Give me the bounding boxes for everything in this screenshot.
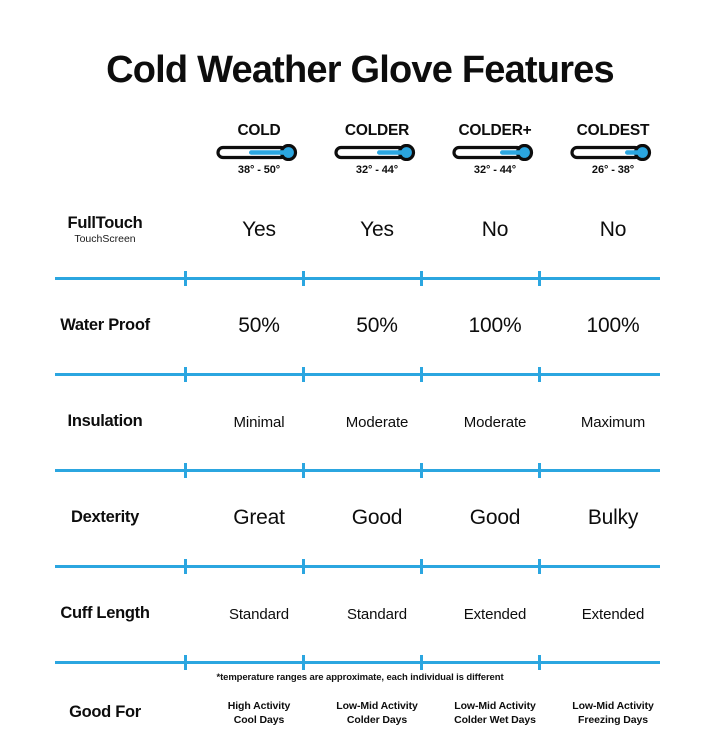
cell-value: Bulky xyxy=(554,506,672,530)
row-label: Dexterity xyxy=(10,509,200,526)
table-row: Dexterity Great Good Good Bulky xyxy=(0,478,660,558)
cell-value-line: Cool Days xyxy=(200,713,318,727)
comparison-table: COLD 38° - 50° COLDER xyxy=(0,122,720,756)
divider-tick xyxy=(538,559,541,574)
divider-tick xyxy=(302,271,305,286)
table-row: Insulation Minimal Moderate Moderate Max… xyxy=(0,382,660,462)
cell-value: Great xyxy=(200,506,318,530)
divider-tick xyxy=(302,655,305,670)
cell-value-line: Low-Mid Activity xyxy=(554,699,672,713)
row-divider xyxy=(55,654,660,670)
table-row: FullTouch TouchScreen Yes Yes No No xyxy=(0,190,660,270)
cell-value: High Activity Cool Days xyxy=(200,699,318,727)
glove-features-infographic: Cold Weather Glove Features COLD 38° - 5… xyxy=(0,0,720,720)
table-row: Water Proof 50% 50% 100% 100% xyxy=(0,286,660,366)
divider-tick xyxy=(538,271,541,286)
page-title: Cold Weather Glove Features xyxy=(0,50,720,92)
row-label-cell: FullTouch TouchScreen xyxy=(0,215,200,246)
cell-value-line: Low-Mid Activity xyxy=(318,699,436,713)
column-temperature-range: 32° - 44° xyxy=(356,164,398,176)
row-label-cell: Cuff Length xyxy=(0,605,200,622)
cell-value-line: Colder Days xyxy=(318,713,436,727)
row-label: Water Proof xyxy=(10,317,200,334)
cell-value: Extended xyxy=(554,606,672,623)
row-divider xyxy=(55,366,660,382)
cell-value: No xyxy=(436,218,554,242)
column-temperature-range: 38° - 50° xyxy=(238,164,280,176)
row-label-cell: Good For xyxy=(0,704,200,721)
cell-value-line: Low-Mid Activity xyxy=(436,699,554,713)
cell-value: Yes xyxy=(200,218,318,242)
cell-value: Low-Mid Activity Freezing Days xyxy=(554,699,672,727)
row-label: Insulation xyxy=(10,413,200,430)
divider-tick xyxy=(184,655,187,670)
cell-value-line: High Activity xyxy=(200,699,318,713)
table-header-row: COLD 38° - 50° COLDER xyxy=(0,122,660,190)
divider-line xyxy=(55,469,660,472)
column-temperature-range: 26° - 38° xyxy=(592,164,634,176)
cell-value: Moderate xyxy=(436,414,554,431)
divider-line xyxy=(55,277,660,280)
row-sublabel: TouchScreen xyxy=(10,233,200,246)
column-temperature-range: 32° - 44° xyxy=(474,164,516,176)
divider-tick xyxy=(184,271,187,286)
column-header-colder-plus: COLDER+ 32° - 44° xyxy=(436,122,554,176)
cell-value: Low-Mid Activity Colder Days xyxy=(318,699,436,727)
row-divider xyxy=(55,462,660,478)
row-divider xyxy=(55,558,660,574)
cell-value: Maximum xyxy=(554,414,672,431)
cell-value: Extended xyxy=(436,606,554,623)
cell-value: No xyxy=(554,218,672,242)
column-header-colder: COLDER 32° - 44° xyxy=(318,122,436,176)
cell-value: 50% xyxy=(200,314,318,338)
column-header-label: COLDER+ xyxy=(458,122,531,140)
divider-tick xyxy=(538,463,541,478)
divider-tick xyxy=(302,559,305,574)
column-header-coldest: COLDEST 26° - 38° xyxy=(554,122,672,176)
column-header-label: COLD xyxy=(237,122,280,140)
cell-value: Standard xyxy=(318,606,436,623)
divider-tick xyxy=(538,367,541,382)
divider-tick xyxy=(302,367,305,382)
cell-value: 100% xyxy=(554,314,672,338)
divider-tick xyxy=(420,367,423,382)
column-header-cold: COLD 38° - 50° xyxy=(200,122,318,176)
row-label: FullTouch xyxy=(10,215,200,232)
column-header-label: COLDEST xyxy=(577,122,650,140)
cell-value: Yes xyxy=(318,218,436,242)
thermometer-icon xyxy=(570,144,656,161)
cell-value: Moderate xyxy=(318,414,436,431)
cell-value: 100% xyxy=(436,314,554,338)
row-label-cell: Insulation xyxy=(0,413,200,430)
thermometer-icon xyxy=(216,144,302,161)
divider-tick xyxy=(420,655,423,670)
divider-tick xyxy=(184,367,187,382)
divider-tick xyxy=(302,463,305,478)
cell-value: Good xyxy=(318,506,436,530)
cell-value: Minimal xyxy=(200,414,318,431)
divider-line xyxy=(55,565,660,568)
divider-tick xyxy=(420,271,423,286)
divider-tick xyxy=(184,559,187,574)
table-row: Cuff Length Standard Standard Extended E… xyxy=(0,574,660,654)
thermometer-icon xyxy=(452,144,538,161)
column-header-label: COLDER xyxy=(345,122,409,140)
cell-value: Good xyxy=(436,506,554,530)
row-divider xyxy=(55,270,660,286)
divider-line xyxy=(55,661,660,664)
cell-value: 50% xyxy=(318,314,436,338)
cell-value: Standard xyxy=(200,606,318,623)
footnote: *temperature ranges are approximate, eac… xyxy=(0,672,720,683)
cell-value-line: Colder Wet Days xyxy=(436,713,554,727)
row-label: Cuff Length xyxy=(10,605,200,622)
row-label-cell: Water Proof xyxy=(0,317,200,334)
divider-tick xyxy=(538,655,541,670)
divider-line xyxy=(55,373,660,376)
row-label-cell: Dexterity xyxy=(0,509,200,526)
cell-value: Low-Mid Activity Colder Wet Days xyxy=(436,699,554,727)
cell-value-line: Freezing Days xyxy=(554,713,672,727)
thermometer-icon xyxy=(334,144,420,161)
divider-tick xyxy=(420,463,423,478)
row-label: Good For xyxy=(10,704,200,721)
divider-tick xyxy=(420,559,423,574)
divider-tick xyxy=(184,463,187,478)
